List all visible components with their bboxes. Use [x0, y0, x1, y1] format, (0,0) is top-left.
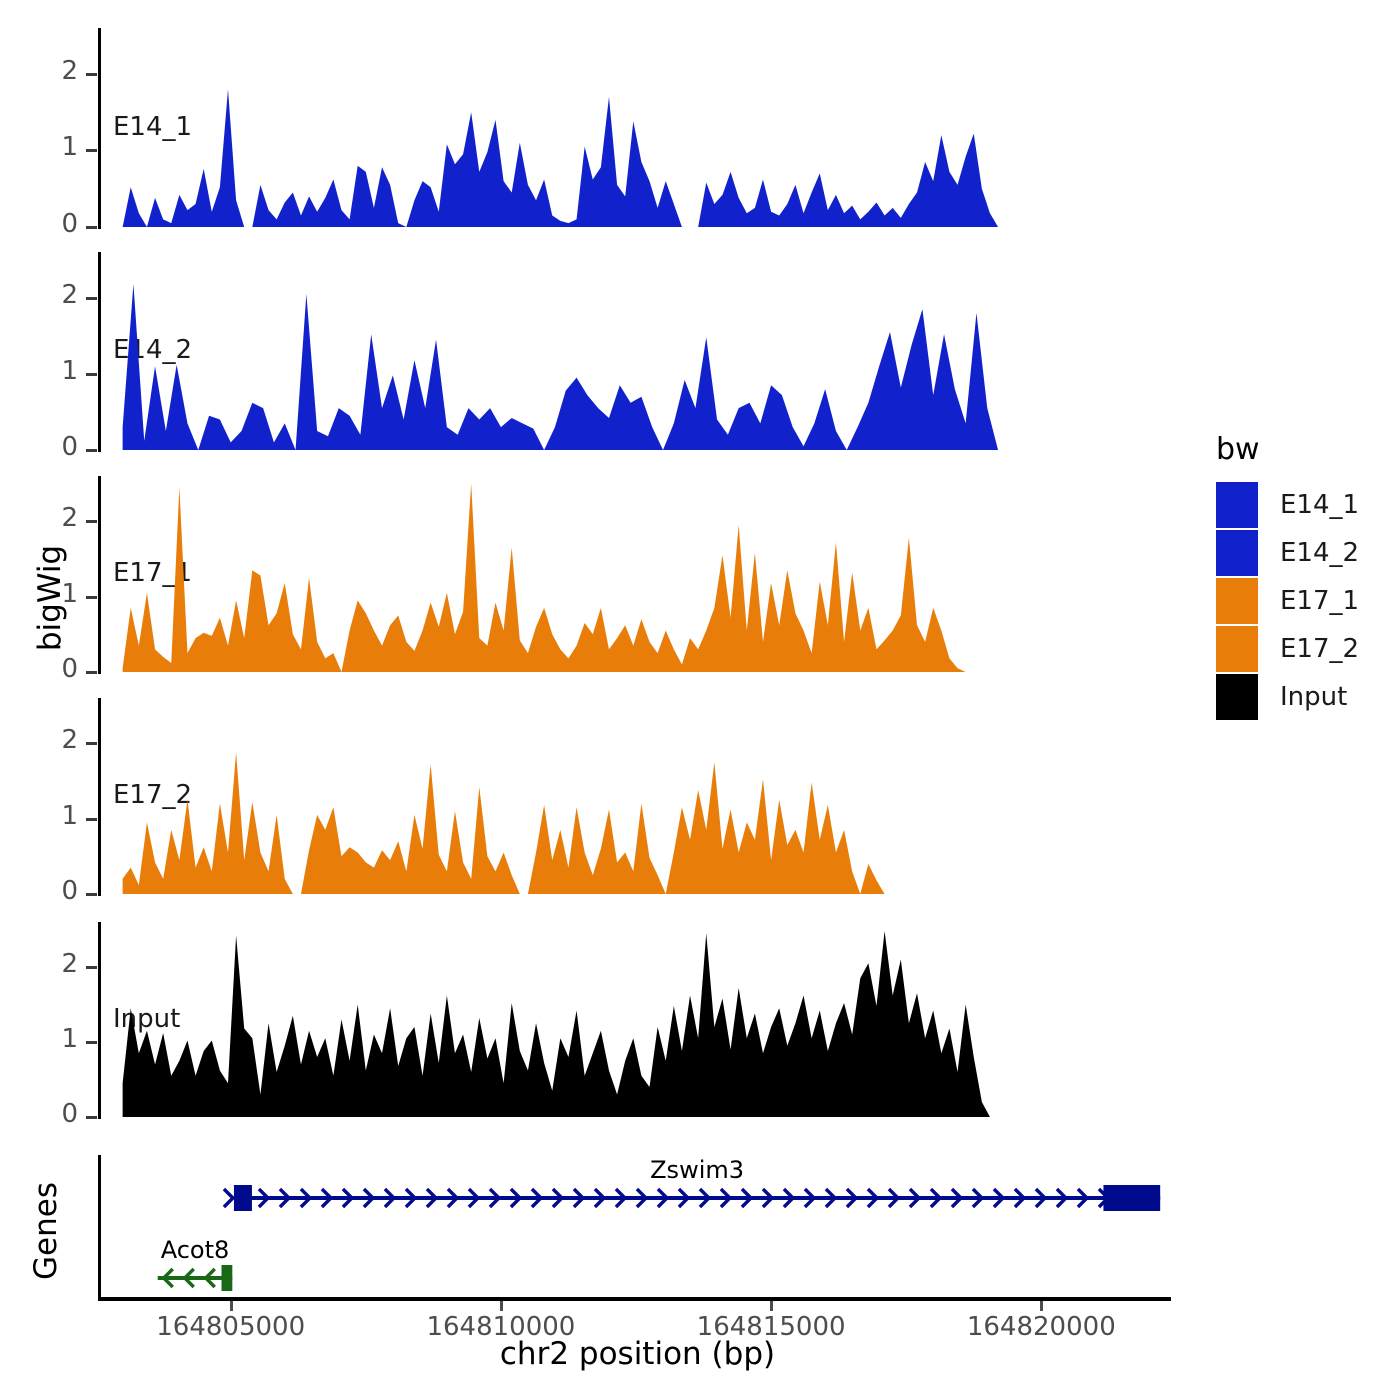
legend-items: E14_1E14_2E17_1E17_2Input [1216, 481, 1359, 721]
x-axis-line [98, 1297, 1171, 1301]
legend-item-input[interactable]: Input [1216, 673, 1359, 721]
legend: bw E14_1E14_2E17_1E17_2Input [1216, 432, 1359, 721]
x-tick-164810000 [500, 1301, 503, 1311]
legend-label-e14_1: E14_1 [1280, 490, 1359, 520]
gene-label-zswim3: Zswim3 [650, 1156, 744, 1184]
x-tick-164805000 [230, 1301, 233, 1311]
legend-item-e17_2[interactable]: E17_2 [1216, 625, 1359, 673]
legend-swatch-input [1216, 674, 1258, 720]
gene-exon-acot8 [222, 1265, 233, 1291]
legend-swatch-e17_1 [1216, 578, 1258, 624]
legend-item-e14_2[interactable]: E14_2 [1216, 529, 1359, 577]
legend-label-e17_2: E17_2 [1280, 634, 1359, 664]
coverage-area-e14_2 [0, 252, 1400, 454]
coverage-area-e17_1 [0, 476, 1400, 676]
x-tick-164815000 [770, 1301, 773, 1311]
strand-arrow-icon [224, 1189, 233, 1207]
legend-label-e14_2: E14_2 [1280, 538, 1359, 568]
x-axis-title: chr2 position (bp) [100, 1336, 1175, 1372]
legend-swatch-e14_2 [1216, 530, 1258, 576]
legend-item-e14_1[interactable]: E14_1 [1216, 481, 1359, 529]
x-tick-164820000 [1040, 1301, 1043, 1311]
gene-body-acot8 [158, 1276, 233, 1280]
gene-label-acot8: Acot8 [161, 1236, 230, 1264]
legend-item-e17_1[interactable]: E17_1 [1216, 577, 1359, 625]
coverage-area-e14_1 [0, 28, 1400, 231]
coverage-area-e17_2 [0, 698, 1400, 898]
gene-exon-zswim3 [1103, 1185, 1160, 1211]
legend-swatch-e17_2 [1216, 626, 1258, 672]
legend-label-e17_1: E17_1 [1280, 586, 1359, 616]
gene-exon-5prime-zswim3 [234, 1185, 252, 1211]
legend-title: bw [1216, 432, 1359, 467]
legend-swatch-e14_1 [1216, 482, 1258, 528]
coverage-area-input [0, 922, 1400, 1121]
legend-label-input: Input [1280, 682, 1347, 712]
